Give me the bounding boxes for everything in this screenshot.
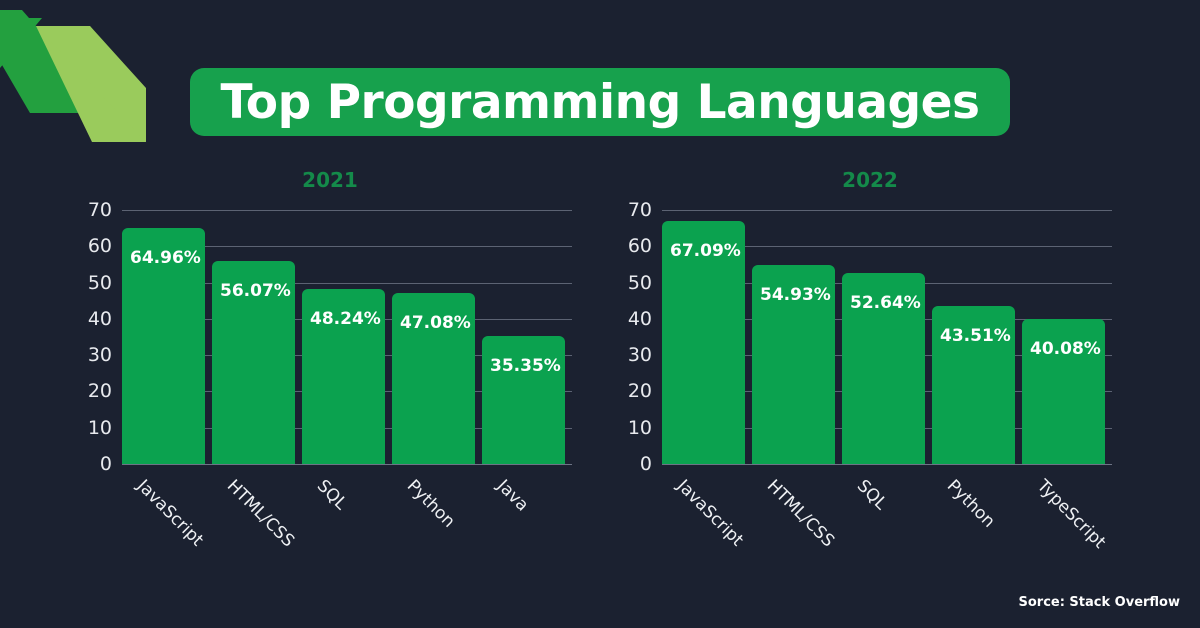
bar-value-label: 54.93% <box>760 285 831 305</box>
y-axis-tick-label: 0 <box>640 453 652 475</box>
y-axis-tick-label: 20 <box>628 380 652 402</box>
chart-panel-2022: 2022 010203040506070 JavaScript67.09%HTM… <box>600 168 1140 568</box>
x-axis-tick-label: Python <box>403 476 459 532</box>
y-axis-tick-label: 30 <box>88 344 112 366</box>
y-axis-tick-label: 70 <box>88 199 112 221</box>
plot-area-2021: 010203040506070 JavaScript64.96%HTML/CSS… <box>122 210 572 464</box>
bars-2022: JavaScript67.09%HTML/CSS54.93%SQL52.64%P… <box>662 210 1112 464</box>
y-axis-tick-label: 30 <box>628 344 652 366</box>
plot-area-2022: 010203040506070 JavaScript67.09%HTML/CSS… <box>662 210 1112 464</box>
chart-panel-2021: 2021 010203040506070 JavaScript64.96%HTM… <box>60 168 600 568</box>
bar[interactable]: 67.09% <box>662 221 745 464</box>
chart-title-2022: 2022 <box>600 168 1140 192</box>
y-axis-tick-label: 20 <box>88 380 112 402</box>
x-axis-tick-label: SQL <box>853 476 891 514</box>
bar-value-label: 67.09% <box>670 241 741 261</box>
y-axis-tick-label: 10 <box>628 417 652 439</box>
bar[interactable]: 35.35% <box>482 336 565 464</box>
y-axis-tick-label: 60 <box>88 235 112 257</box>
bar[interactable]: 56.07% <box>212 261 295 464</box>
page-title: Top Programming Languages <box>220 79 979 126</box>
bar-value-label: 43.51% <box>940 326 1011 346</box>
y-axis-tick-label: 50 <box>88 272 112 294</box>
bar-value-label: 40.08% <box>1030 339 1101 359</box>
x-axis-tick-label: JavaScript <box>133 476 207 550</box>
y-axis-tick-label: 50 <box>628 272 652 294</box>
chart-title-2021: 2021 <box>60 168 600 192</box>
bar[interactable]: 48.24% <box>302 289 385 464</box>
gridline <box>122 464 572 465</box>
bar[interactable]: 54.93% <box>752 265 835 464</box>
y-axis-tick-label: 0 <box>100 453 112 475</box>
bar-value-label: 52.64% <box>850 293 921 313</box>
x-axis-tick-label: JavaScript <box>673 476 747 550</box>
bar[interactable]: 47.08% <box>392 293 475 464</box>
x-axis-tick-label: Java <box>493 476 533 516</box>
bar-value-label: 35.35% <box>490 356 561 376</box>
source-note: Sorce: Stack Overflow <box>1018 595 1180 610</box>
x-axis-tick-label: TypeScript <box>1033 476 1110 553</box>
page-title-banner: Top Programming Languages <box>190 68 1010 136</box>
bar[interactable]: 52.64% <box>842 273 925 464</box>
bar[interactable]: 64.96% <box>122 228 205 464</box>
bar[interactable]: 40.08% <box>1022 319 1105 464</box>
corner-decoration <box>0 0 200 160</box>
bar-value-label: 56.07% <box>220 281 291 301</box>
x-axis-tick-label: HTML/CSS <box>223 476 298 551</box>
y-axis-tick-label: 60 <box>628 235 652 257</box>
bar-value-label: 48.24% <box>310 309 381 329</box>
bars-2021: JavaScript64.96%HTML/CSS56.07%SQL48.24%P… <box>122 210 572 464</box>
x-axis-tick-label: SQL <box>313 476 351 514</box>
y-axis-tick-label: 40 <box>88 308 112 330</box>
charts-container: 2021 010203040506070 JavaScript64.96%HTM… <box>0 168 1200 568</box>
bar-value-label: 47.08% <box>400 313 471 333</box>
bar-value-label: 64.96% <box>130 248 201 268</box>
x-axis-tick-label: HTML/CSS <box>763 476 838 551</box>
gridline <box>662 464 1112 465</box>
x-axis-tick-label: Python <box>943 476 999 532</box>
y-axis-tick-label: 70 <box>628 199 652 221</box>
bar[interactable]: 43.51% <box>932 306 1015 464</box>
y-axis-tick-label: 10 <box>88 417 112 439</box>
y-axis-tick-label: 40 <box>628 308 652 330</box>
